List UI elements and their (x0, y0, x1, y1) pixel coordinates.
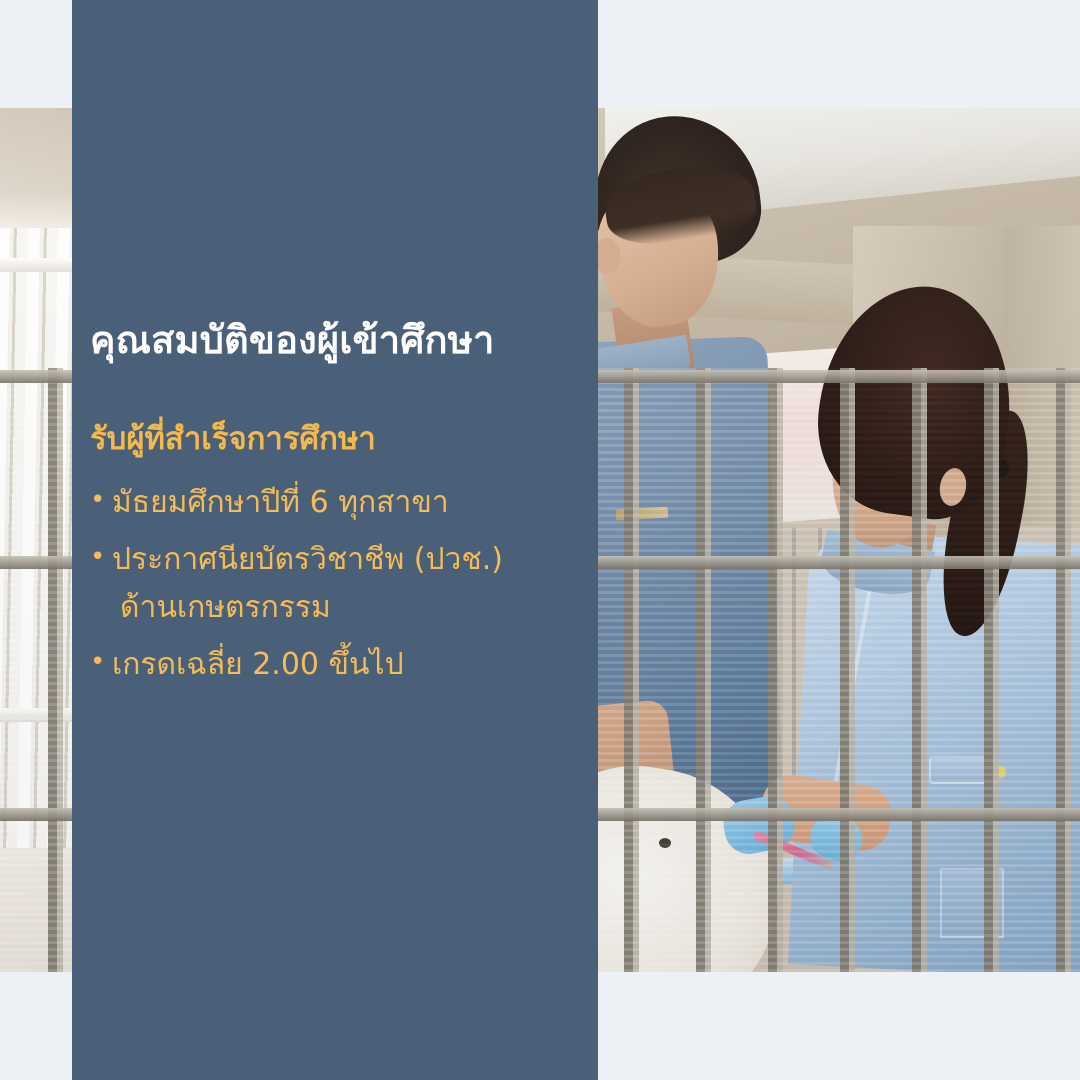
bullet-icon: • (90, 539, 112, 577)
list-item-label: มัธยมศึกษาปีที่ 6 ทุกสาขา (112, 482, 449, 523)
page-title: คุณสมบัติของผู้เข้าศึกษา (90, 318, 590, 363)
list-item: • ประกาศนียบัตรวิชาชีพ (ปวช.) (90, 539, 590, 580)
subheading: รับผู้ที่สำเร็จการศึกษา (90, 421, 590, 458)
list-item-label: ประกาศนียบัตรวิชาชีพ (ปวช.) (112, 539, 503, 580)
list-item: • เกรดเฉลี่ย 2.00 ขึ้นไป (90, 644, 590, 685)
list-item: • มัธยมศึกษาปีที่ 6 ทุกสาขา (90, 482, 590, 523)
list-item-label: เกรดเฉลี่ย 2.00 ขึ้นไป (112, 644, 404, 685)
list-item-continuation: ด้านเกษตรกรรม (90, 587, 590, 628)
poster-canvas: คุณสมบัติของผู้เข้าศึกษา รับผู้ที่สำเร็จ… (0, 0, 1080, 1080)
poster-text-block: คุณสมบัติของผู้เข้าศึกษา รับผู้ที่สำเร็จ… (90, 318, 590, 702)
bullet-icon: • (90, 482, 112, 520)
bullet-icon: • (90, 644, 112, 682)
qualification-list: • มัธยมศึกษาปีที่ 6 ทุกสาขา • ประกาศนียบ… (90, 482, 590, 686)
